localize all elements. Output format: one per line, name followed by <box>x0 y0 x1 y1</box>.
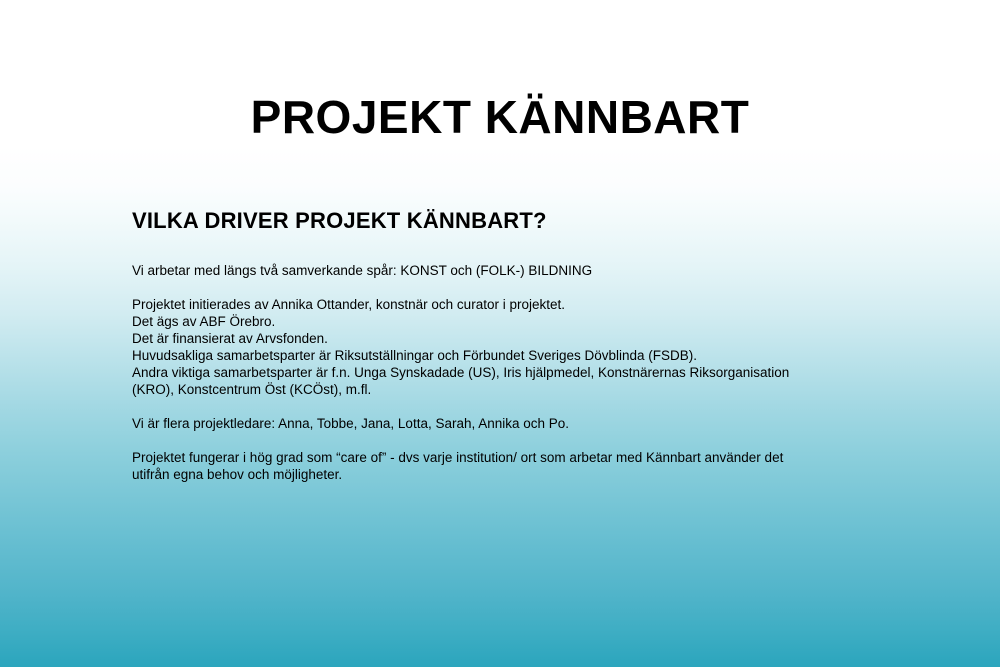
paragraph-line: Det ägs av ABF Örebro. <box>132 313 872 330</box>
slide-content-body: VILKA DRIVER PROJEKT KÄNNBART? Vi arbeta… <box>132 208 872 483</box>
paragraph-line: Projektet fungerar i hög grad som “care … <box>132 449 872 466</box>
paragraph-line: (KRO), Konstcentrum Öst (KCÖst), m.fl. <box>132 381 872 398</box>
paragraph-line: Huvudsakliga samarbetsparter är Riksutst… <box>132 347 872 364</box>
paragraph-line: Det är finansierat av Arvsfonden. <box>132 330 872 347</box>
presentation-slide: PROJEKT KÄNNBART VILKA DRIVER PROJEKT KÄ… <box>0 0 1000 667</box>
section-heading: VILKA DRIVER PROJEKT KÄNNBART? <box>132 208 872 234</box>
paragraph-line: Vi är flera projektledare: Anna, Tobbe, … <box>132 415 872 432</box>
slide-title: PROJEKT KÄNNBART <box>0 92 1000 143</box>
paragraph-line: Andra viktiga samarbetsparter är f.n. Un… <box>132 364 872 381</box>
paragraph-care-of: Projektet fungerar i hög grad som “care … <box>132 449 872 483</box>
paragraph-line: utifrån egna behov och möjligheter. <box>132 466 872 483</box>
paragraph-tracks: Vi arbetar med längs två samverkande spå… <box>132 262 872 279</box>
paragraph-project-leaders: Vi är flera projektledare: Anna, Tobbe, … <box>132 415 872 432</box>
paragraph-line: Vi arbetar med längs två samverkande spå… <box>132 262 872 279</box>
paragraph-line: Projektet initierades av Annika Ottander… <box>132 296 872 313</box>
paragraph-organisation: Projektet initierades av Annika Ottander… <box>132 296 872 398</box>
